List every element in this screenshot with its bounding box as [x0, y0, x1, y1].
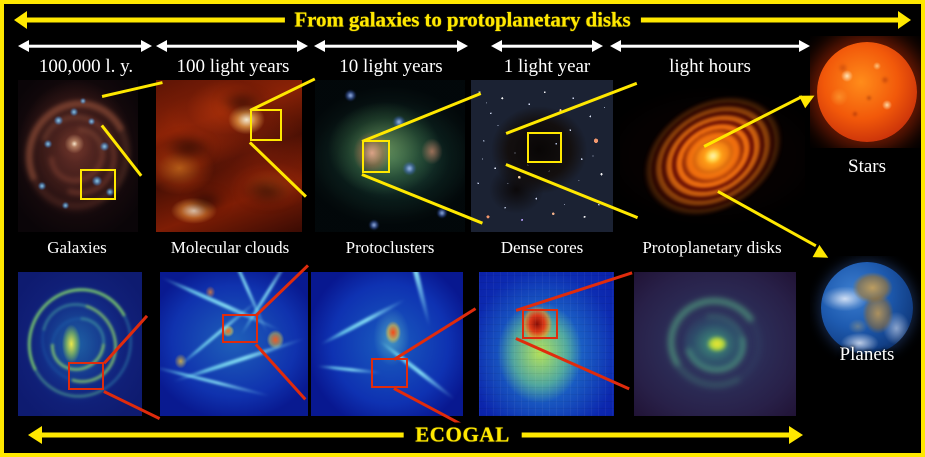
panel-dense-cores: [471, 80, 613, 232]
infrared-molecular-cloud-image: [156, 80, 302, 232]
galaxy-hii-region: [62, 202, 69, 209]
caption-protoplanetary-disks: Protoplanetary disks: [614, 238, 810, 258]
panel-clump-simulation: [311, 272, 463, 416]
sim-pixel-grid: [479, 272, 614, 416]
arrow-head-right: [141, 40, 152, 52]
protocluster-blue-source: [345, 90, 356, 101]
zoom-box-clump-simulation: [371, 358, 408, 388]
galaxy-hii-region: [80, 98, 86, 104]
galaxy-simulation-image: [18, 272, 142, 416]
sun-image: [817, 42, 917, 142]
caption-planets: Planets: [810, 344, 924, 366]
galaxy-hii-region: [100, 142, 109, 151]
arrow-shaft: [619, 45, 801, 48]
caption-stars: Stars: [810, 156, 924, 178]
ecogal-figure: From galaxies to protoplanetary disks: [0, 0, 925, 457]
top-banner: From galaxies to protoplanetary disks: [4, 4, 921, 36]
scale-label-0: 100,000 l. y.: [8, 56, 164, 78]
clump-simulation-image: [311, 272, 463, 416]
protocluster-blue-source: [369, 220, 379, 230]
galaxy-hii-region: [44, 140, 52, 148]
bottom-arrow-head-right: [789, 426, 803, 444]
scale-label-2: 10 light years: [310, 56, 472, 78]
sim-filament: [160, 366, 271, 398]
panel-protoplanetary-disks: [620, 80, 805, 232]
scale-label-3: 1 light year: [481, 56, 613, 78]
sim-disk-core: [663, 296, 767, 392]
scale-arrow-3: [491, 38, 603, 54]
galaxy-hii-region: [38, 182, 46, 190]
arrow-head-right: [592, 40, 603, 52]
cloud-dark-wisp: [162, 134, 214, 162]
figure-title: From galaxies to protoplanetary disks: [284, 8, 640, 33]
arrow-head-right: [297, 40, 308, 52]
panel-molecular-clouds: [156, 80, 302, 232]
disk-simulation-image: [634, 272, 796, 416]
panel-protoclusters: [315, 80, 465, 232]
zoom-box-galaxies: [80, 169, 116, 200]
arrow-head-right: [457, 40, 468, 52]
arrow-shaft: [165, 45, 299, 48]
arrow-shaft: [27, 45, 143, 48]
arrow-shaft: [500, 45, 594, 48]
zoom-box-molecular-clouds: [250, 109, 282, 141]
zoom-box-galaxy-simulation: [68, 362, 104, 390]
caption-protoclusters: Protoclusters: [314, 238, 466, 258]
panel-galaxies: [18, 80, 138, 232]
scale-arrow-row: [4, 38, 921, 54]
dense-core-simulation-image: [479, 272, 614, 416]
protoplanetary-disk-image: [620, 80, 805, 232]
panel-dense-core-simulation: [479, 272, 614, 416]
scale-label-1: 100 light years: [152, 56, 314, 78]
galaxy-hii-region: [70, 108, 78, 116]
caption-galaxies: Galaxies: [12, 238, 142, 258]
bottom-banner: ECOGAL: [4, 417, 921, 453]
disk-rings: [620, 80, 805, 232]
zoom-box-protoclusters: [362, 140, 390, 173]
panel-stars: [810, 36, 924, 148]
project-name: ECOGAL: [403, 423, 522, 448]
scale-arrow-4: [610, 38, 810, 54]
scale-arrow-2: [314, 38, 468, 54]
earth-image: [821, 262, 913, 354]
banner-arrow-head-left: [14, 11, 27, 29]
cloud-dark-wisp: [240, 176, 294, 206]
protocluster-nebula-image: [315, 80, 465, 232]
caption-molecular-clouds: Molecular clouds: [150, 238, 310, 258]
scale-label-4: light hours: [604, 56, 816, 78]
arrow-shaft: [323, 45, 459, 48]
protocluster-blue-source: [403, 162, 416, 175]
galaxy-hii-region: [54, 116, 63, 125]
banner-arrow-head-right: [898, 11, 911, 29]
scale-arrow-1: [156, 38, 308, 54]
zoom-box-dense-core-simulation: [522, 309, 558, 339]
bottom-arrow-head-left: [28, 426, 42, 444]
arrow-head-right: [799, 40, 810, 52]
zoom-box-filament-simulation: [222, 314, 258, 343]
caption-dense-cores: Dense cores: [470, 238, 614, 258]
panel-disk-simulation: [634, 272, 796, 416]
spiral-galaxy-image: [18, 80, 138, 232]
panel-filament-simulation: [160, 272, 308, 416]
cloud-dark-wisp: [186, 190, 226, 212]
zoom-box-dense-cores: [527, 132, 562, 163]
sim-filament: [320, 298, 407, 347]
galaxy-hii-region: [88, 118, 95, 125]
scale-arrow-0: [18, 38, 152, 54]
filament-simulation-image: [160, 272, 308, 416]
panel-galaxy-simulation: [18, 272, 142, 416]
